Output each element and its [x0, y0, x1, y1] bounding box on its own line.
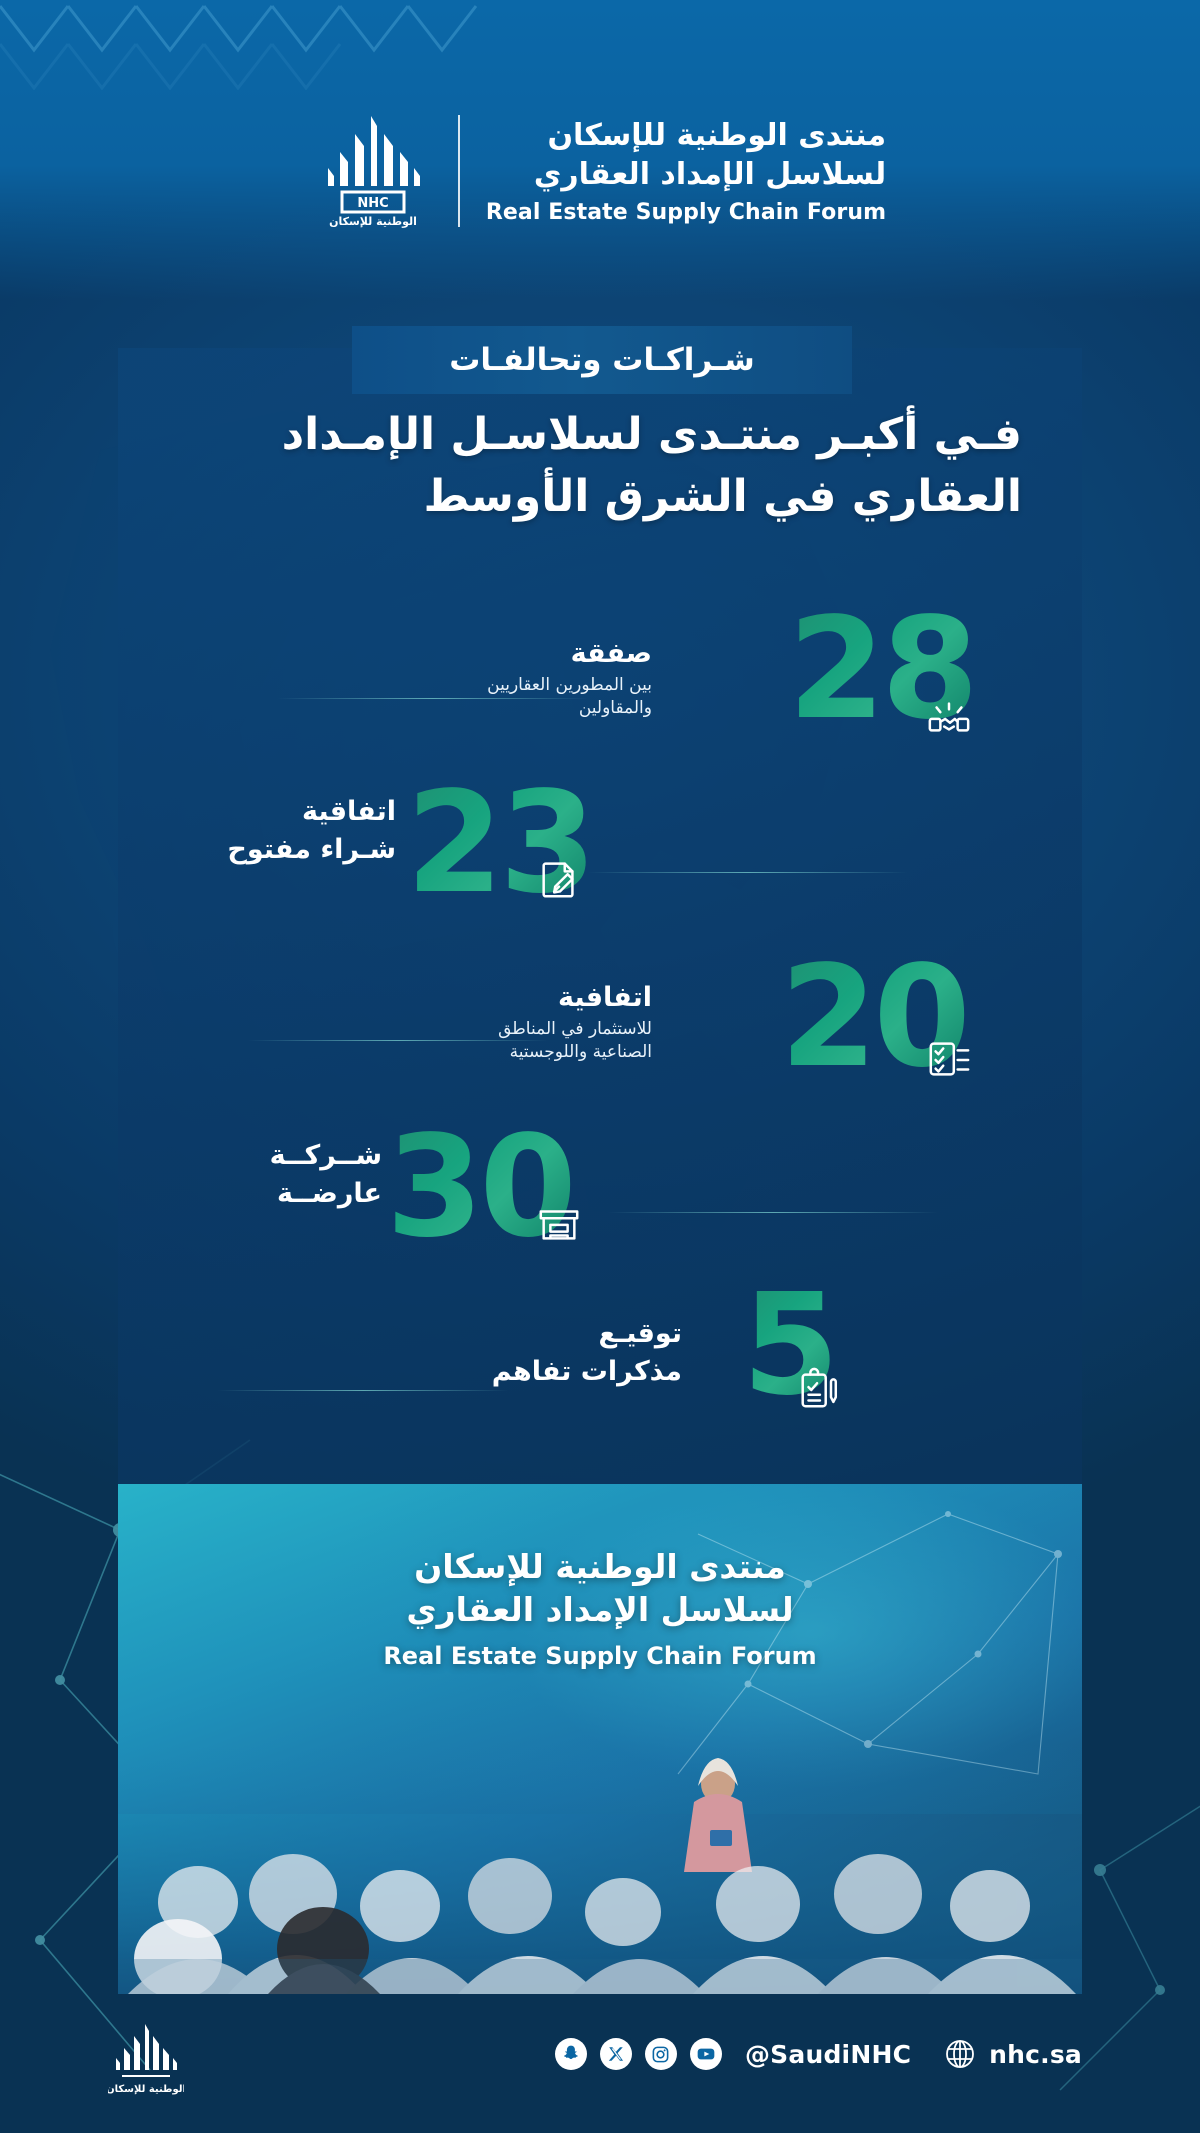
logo-badge-text: NHC [357, 196, 388, 211]
social-handle[interactable]: @SaudiNHC [745, 2040, 911, 2069]
stat-label: صفقة بين المطورين العقاريين والمقاولين [487, 638, 652, 720]
website-url[interactable]: nhc.sa [989, 2040, 1082, 2069]
page-title: فـي أكبـر منتـدى لسلاسـل الإمـداد العقار… [150, 404, 1050, 529]
globe-icon [944, 2038, 976, 2070]
stat-subtitle-line1: للاستثمار في المناطق [498, 1018, 652, 1041]
handshake-icon [926, 694, 972, 740]
logo-title-ar-line2: لسلاسل الإمداد العقاري [486, 156, 886, 194]
stage-title-en: Real Estate Supply Chain Forum [118, 1642, 1082, 1670]
stat-subtitle-line1: شـراء مفتوح [227, 834, 396, 866]
stat-subtitle-line1: عارضــة [270, 1178, 382, 1210]
nhc-building-icon: الوطنية للإسكان [108, 2022, 184, 2100]
logo-title-en: Real Estate Supply Chain Forum [486, 200, 886, 225]
social-bar: @SaudiNHC nhc.sa [555, 2038, 1082, 2070]
document-pencil-icon [536, 856, 582, 902]
instagram-icon[interactable] [645, 2038, 677, 2070]
stage-screen-title: منتدى الوطنية للإسكان لسلاسل الإمداد الع… [118, 1546, 1082, 1670]
stats-list: 28 صفقة بين المطورين العقاريين والمقاولي… [118, 600, 1082, 1500]
logo-title-ar-line1: منتدى الوطنية للإسكان [486, 117, 886, 155]
stat-item: 30 شــركــة عارضــة [118, 1118, 1082, 1268]
stat-label: توقيـع مذكرات تفاهم [492, 1318, 682, 1389]
stat-subtitle-line2: الصناعية واللوجستية [498, 1041, 652, 1064]
stage-title-ar-line1: منتدى الوطنية للإسكان [118, 1546, 1082, 1589]
x-twitter-icon[interactable] [600, 2038, 632, 2070]
stat-item: 28 صفقة بين المطورين العقاريين والمقاولي… [118, 600, 1082, 750]
stat-item: 20 اتفافية للاستثمار في المناطق الصناعية… [118, 948, 1082, 1098]
footer-logo-subtext: الوطنية للإسكان [108, 2084, 184, 2095]
logo-text-block: منتدى الوطنية للإسكان لسلاسل الإمداد الع… [486, 117, 886, 225]
snapchat-icon[interactable] [555, 2038, 587, 2070]
ribbon-label: شـراكـات وتحالفـات [449, 342, 754, 378]
clipboard-pen-icon [796, 1366, 842, 1412]
footer: الوطنية للإسكان @SaudiNHC [0, 1994, 1200, 2133]
stat-title: اتفاقية [227, 796, 396, 828]
nhc-building-icon: NHC الوطنية للإسكان [314, 112, 432, 230]
ribbon-banner: شـراكـات وتحالفـات [352, 326, 852, 394]
youtube-icon[interactable] [690, 2038, 722, 2070]
stat-subtitle-line2: والمقاولين [487, 697, 652, 720]
stat-label: شــركــة عارضــة [270, 1140, 382, 1211]
audience-crowd [118, 1744, 1082, 1994]
logo-badge-subtext: الوطنية للإسكان [329, 215, 417, 228]
stat-subtitle-line1: مذكرات تفاهم [492, 1356, 682, 1388]
header: NHC الوطنية للإسكان منتدى الوطنية للإسكا… [0, 112, 1200, 230]
checklist-icon [926, 1036, 972, 1082]
stat-title: صفقة [487, 638, 652, 670]
exhibition-booth-icon [536, 1200, 582, 1246]
stat-label: اتفاقية شـراء مفتوح [227, 796, 396, 867]
stat-item: 5 توقيـع مذكرات تفاهم [118, 1276, 1082, 1426]
headline-line1: فـي أكبـر منتـدى لسلاسـل الإمـداد [150, 404, 1022, 466]
stage-title-ar-line2: لسلاسل الإمداد العقاري [118, 1589, 1082, 1632]
stat-title: شــركــة [270, 1140, 382, 1172]
logo-divider [458, 115, 460, 227]
stat-label: اتفافية للاستثمار في المناطق الصناعية وا… [498, 982, 652, 1064]
stat-subtitle-line1: بين المطورين العقاريين [487, 674, 652, 697]
stat-item: 23 اتفاقية شـراء مفتوح [118, 774, 1082, 924]
event-photo: منتدى الوطنية للإسكان لسلاسل الإمداد الع… [118, 1484, 1082, 1994]
stat-title: توقيـع [492, 1318, 682, 1350]
chevron-pattern-decoration [0, 0, 640, 90]
stat-title: اتفافية [498, 982, 652, 1014]
headline-line2: العقاري في الشرق الأوسط [150, 466, 1022, 528]
